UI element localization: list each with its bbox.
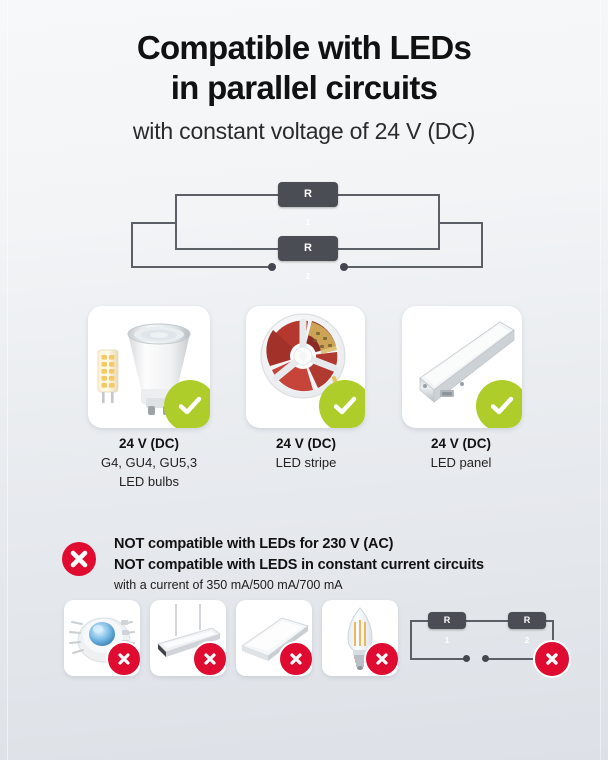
caption-voltage: 24 V (DC) <box>386 434 536 453</box>
headline-block: Compatible with LEDs in parallel circuit… <box>0 28 608 146</box>
check-badge <box>476 380 522 428</box>
cross-icon <box>62 542 96 576</box>
lead-right-vertical <box>481 222 483 268</box>
caption-led-stripe: 24 V (DC) LED stripe <box>231 434 381 472</box>
caption-voltage: 24 V (DC) <box>74 434 224 453</box>
lead-right-horizontal <box>438 222 483 224</box>
cross-icon <box>115 650 133 668</box>
headline-subtitle: with constant voltage of 24 V (DC) <box>0 116 608 146</box>
not-compatible-line-2: NOT compatible with LEDS in constant cur… <box>114 555 562 576</box>
resistor-r1: R1 <box>278 182 338 207</box>
not-compatible-block: NOT compatible with LEDs for 230 V (AC) … <box>62 534 562 595</box>
check-icon <box>331 392 359 420</box>
compatible-products: 24 V (DC) G4, GU4, GU5,3 LED bulbs 24 V … <box>0 306 608 491</box>
series-resistor-r1-label: R <box>428 612 466 629</box>
series-cross-badge <box>533 640 571 678</box>
rail-bottom-left <box>131 266 272 268</box>
series-wire-left-down <box>410 620 412 660</box>
series-rail-bottom-left <box>410 658 467 660</box>
series-resistor-r1-subscript: 1 <box>445 636 449 645</box>
series-resistor-r2-label: R <box>508 612 546 629</box>
product-card-flat-panel[interactable] <box>236 600 312 676</box>
resistor-r2: R2 <box>278 236 338 261</box>
product-card-filament-candle-bulb[interactable] <box>322 600 398 676</box>
series-terminal-dot-left <box>463 655 470 662</box>
wire-bottom-right <box>336 248 440 250</box>
headline-line-2: in parallel circuits <box>0 68 608 108</box>
caption-voltage: 24 V (DC) <box>231 434 381 453</box>
caption-detail: G4, GU4, GU5,3 <box>74 453 224 472</box>
series-wire-2 <box>466 620 510 622</box>
not-compatible-text: NOT compatible with LEDs for 230 V (AC) … <box>114 534 562 595</box>
cross-badge <box>192 641 226 676</box>
headline-line-1: Compatible with LEDs <box>0 28 608 68</box>
series-wire-1 <box>410 620 430 622</box>
product-card-led-panel[interactable] <box>402 306 522 428</box>
resistor-r2-label: R <box>278 236 338 261</box>
check-icon <box>488 392 516 420</box>
resistor-r2-subscript: 2 <box>306 272 310 281</box>
cross-icon <box>373 650 391 668</box>
series-resistor-r2-subscript: 2 <box>525 636 529 645</box>
cross-badge <box>62 542 96 576</box>
not-compatible-line-3: with a current of 350 mA/500 mA/700 mA <box>114 576 562 595</box>
product-card-suspended-luminaire[interactable] <box>150 600 226 676</box>
wire-top-right <box>336 194 440 196</box>
product-card-led-stripe[interactable] <box>246 306 365 428</box>
series-circuit-diagram: R1 R2 <box>408 612 556 672</box>
caption-led-bulbs: 24 V (DC) G4, GU4, GU5,3 LED bulbs <box>74 434 224 491</box>
check-badge <box>164 380 210 428</box>
cross-badge <box>278 641 312 676</box>
wire-top-left <box>175 194 280 196</box>
terminal-dot-right <box>340 263 348 271</box>
lead-left-vertical <box>131 222 133 268</box>
terminal-dot-left <box>268 263 276 271</box>
check-badge <box>319 380 365 428</box>
caption-detail: LED stripe <box>231 453 381 472</box>
cross-icon <box>201 650 219 668</box>
caption-detail: LED panel <box>386 453 536 472</box>
product-card-led-bulbs[interactable] <box>88 306 210 428</box>
wire-bottom-left <box>175 248 280 250</box>
rail-bottom-right <box>344 266 483 268</box>
not-compatible-line-1: NOT compatible with LEDs for 230 V (AC) <box>114 534 562 555</box>
series-resistor-r1: R1 <box>428 612 466 629</box>
series-resistor-r2: R2 <box>508 612 546 629</box>
resistor-r1-label: R <box>278 182 338 207</box>
cross-badge <box>364 641 398 676</box>
parallel-circuit-diagram: R1 R2 <box>118 180 496 280</box>
lead-left-horizontal <box>131 222 177 224</box>
cross-badge <box>106 641 140 676</box>
series-terminal-dot-right <box>482 655 489 662</box>
caption-led-panel: 24 V (DC) LED panel <box>386 434 536 472</box>
cross-icon <box>287 650 305 668</box>
check-icon <box>176 392 204 420</box>
cross-icon <box>542 649 562 669</box>
resistor-r1-subscript: 1 <box>306 218 310 227</box>
caption-type: LED bulbs <box>74 472 224 491</box>
product-card-recessed-downlight[interactable] <box>64 600 140 676</box>
